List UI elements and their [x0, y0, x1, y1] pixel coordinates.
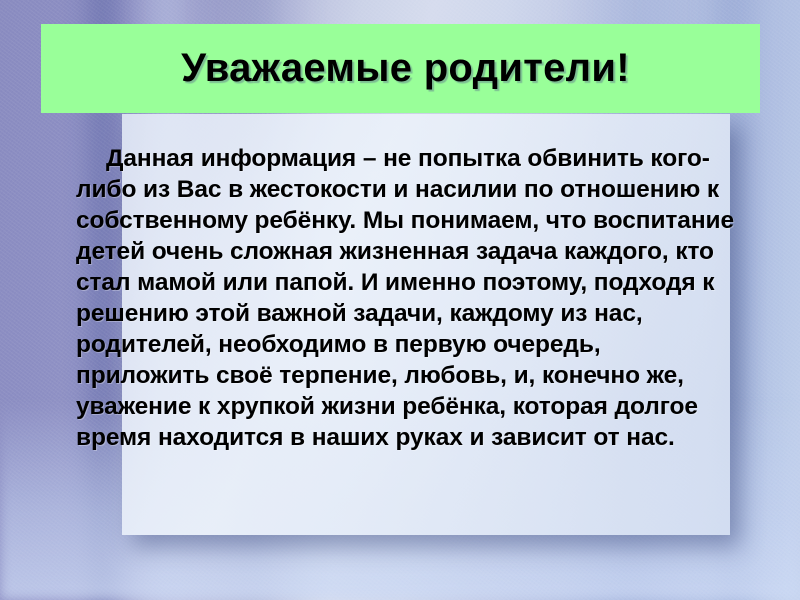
slide-title: Уважаемые родители!: [171, 46, 630, 91]
presentation-slide: Уважаемые родители! Данная информация – …: [0, 0, 800, 600]
title-banner: Уважаемые родители!: [41, 24, 760, 113]
slide-body-text: Данная информация – не попытка обвинить …: [76, 143, 736, 453]
